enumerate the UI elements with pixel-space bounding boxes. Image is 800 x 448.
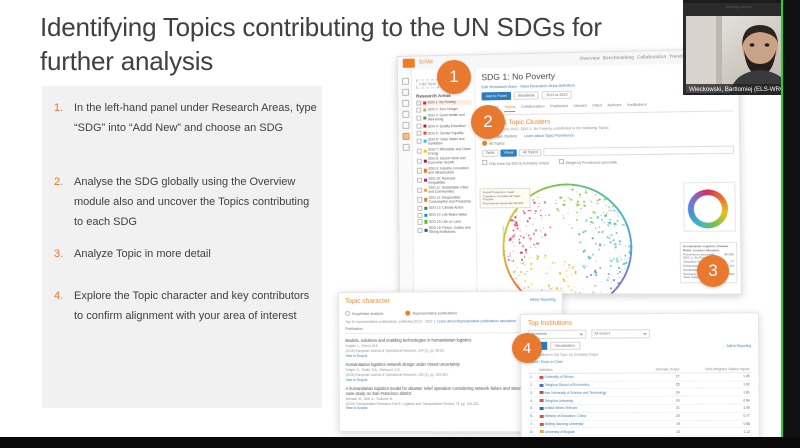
view-table-button[interactable]: Table bbox=[482, 149, 498, 156]
scatter-point bbox=[521, 258, 523, 260]
scatter-point bbox=[596, 216, 598, 218]
row-rank: 1. bbox=[528, 373, 537, 381]
scatter-point bbox=[525, 225, 526, 226]
scatter-point bbox=[594, 214, 595, 215]
scatter-point bbox=[625, 262, 627, 264]
scatter-point bbox=[514, 233, 515, 234]
nav-item-benchmarking[interactable]: Benchmarking bbox=[603, 55, 634, 61]
participant-name-label: Wieckowski, Bartlomiej (ELS-WRO bbox=[686, 84, 792, 95]
sdg-label: SDG 5: Gender Equality bbox=[428, 131, 464, 136]
checkbox-icon[interactable] bbox=[418, 228, 423, 233]
scatter-point bbox=[585, 192, 586, 193]
sdg-list-item[interactable]: SDG 14: Life Below Water bbox=[417, 212, 472, 218]
scatter-point bbox=[520, 252, 522, 254]
country-flag-icon bbox=[539, 423, 543, 426]
sdg-list-item[interactable]: SDG 4: Quality Education bbox=[416, 123, 471, 129]
scatter-point bbox=[623, 276, 625, 278]
rail-settings-icon[interactable] bbox=[403, 144, 410, 151]
institution-name[interactable]: Ministry of Education, China bbox=[545, 414, 586, 418]
institution-name[interactable]: University of Tehran bbox=[544, 375, 573, 379]
sdg-label: SDG 10: Reduced Inequalities bbox=[428, 176, 472, 184]
slide-canvas: Identifying Topics contributing to the U… bbox=[0, 0, 800, 437]
row-fwci: 1.02 bbox=[681, 380, 751, 388]
scatter-point bbox=[591, 230, 592, 231]
scatter-point bbox=[525, 280, 526, 281]
add-to-panel-button[interactable]: Add to Panel bbox=[482, 92, 511, 101]
scatter-point bbox=[585, 219, 588, 221]
scatter-point bbox=[510, 259, 511, 260]
scatter-point bbox=[584, 293, 586, 294]
step-item-4: 4. Explore the Topic character and key c… bbox=[50, 286, 318, 326]
scatter-point bbox=[615, 232, 617, 234]
sdg-label: SDG 15: Life on Land bbox=[429, 220, 461, 224]
export-show-on-chart-link[interactable]: Export / Show on Chart bbox=[528, 359, 751, 364]
scatter-point bbox=[556, 287, 558, 289]
row-institution[interactable]: University of Bogota bbox=[538, 428, 642, 436]
checkbox-icon[interactable] bbox=[416, 131, 421, 136]
sdg-label: SDG 11: Sustainable Cities and Communiti… bbox=[428, 186, 472, 194]
scatter-point bbox=[533, 243, 535, 245]
sdg-color-swatch bbox=[423, 150, 426, 153]
rail-areas-icon[interactable] bbox=[402, 89, 409, 96]
checkbox-icon[interactable] bbox=[416, 124, 421, 129]
sdg-list-item[interactable]: SDG 6: Clean Water and Sanitation bbox=[417, 137, 472, 146]
scatter-point bbox=[567, 281, 568, 282]
row-fwci: 0.94 bbox=[681, 396, 751, 404]
scatter-point bbox=[571, 227, 573, 229]
table-row[interactable]: 6.Ministry of Education, China200.77 bbox=[529, 412, 752, 420]
tab-authors[interactable]: Authors bbox=[607, 102, 621, 110]
checkbox-icon[interactable] bbox=[417, 197, 422, 202]
sdg-list-item[interactable]: SDG 8: Decent Work and Economic Growth bbox=[417, 156, 472, 165]
checkbox-icon[interactable] bbox=[559, 159, 564, 164]
scatter-point bbox=[622, 223, 625, 226]
step-number: 2. bbox=[50, 172, 72, 232]
radio-icon-topics[interactable] bbox=[482, 141, 487, 146]
row-fwci: 1.45 bbox=[681, 373, 751, 381]
sector-select[interactable]: All sectors bbox=[591, 329, 650, 338]
scatter-point bbox=[577, 204, 579, 206]
right-frame-edge bbox=[783, 0, 800, 437]
sdg-color-swatch bbox=[424, 169, 427, 172]
sdg-list-item[interactable]: SDG 10: Reduced Inequalities bbox=[417, 176, 472, 185]
scatter-point bbox=[573, 266, 574, 267]
scatter-point bbox=[607, 221, 608, 222]
metric-reporting-link[interactable]: Metric Reporting bbox=[530, 298, 555, 302]
row-rank: 8. bbox=[529, 428, 538, 436]
tab-viewed[interactable]: Viewed bbox=[573, 103, 586, 111]
institution-name[interactable]: Institut Mines-Telecom bbox=[545, 406, 578, 410]
rail-topics-icon[interactable] bbox=[403, 133, 410, 140]
topic-tooltip-card[interactable]: Social Protection; Cash Transfers; Condi… bbox=[479, 188, 530, 209]
scatter-point bbox=[562, 217, 564, 219]
sdg-label: SDG 7: Affordable and Clean Energy bbox=[428, 147, 472, 156]
scatter-point bbox=[513, 271, 515, 273]
scatter-point bbox=[570, 198, 573, 201]
sdg-color-swatch bbox=[423, 108, 426, 111]
rail-countries-icon[interactable] bbox=[402, 122, 409, 129]
radio-all-topics[interactable]: All Topics bbox=[482, 137, 734, 146]
sdg-color-swatch bbox=[424, 213, 427, 216]
add-new-button[interactable]: Add New bbox=[416, 79, 439, 88]
row-rank: 4. bbox=[529, 397, 538, 405]
scatter-point bbox=[576, 219, 578, 221]
scatter-point bbox=[585, 202, 586, 203]
row-institution[interactable]: Tsinghua University bbox=[538, 396, 642, 404]
radio-icon-representative[interactable] bbox=[405, 311, 410, 316]
step-text: Analyze Topic in more detail bbox=[72, 244, 211, 264]
scatter-point bbox=[558, 272, 561, 275]
webcam-person-illustration bbox=[686, 16, 792, 93]
country-flag-icon bbox=[539, 430, 543, 433]
scatter-point bbox=[530, 256, 531, 257]
radio-icon-keyphrase[interactable] bbox=[345, 311, 350, 316]
checkbox-row[interactable]: Only show top 500 by Scholarly Output We… bbox=[482, 157, 734, 166]
step-text: Explore the Topic character and key cont… bbox=[72, 286, 318, 326]
checkbox-icon[interactable] bbox=[417, 139, 422, 144]
sdg-list[interactable]: SDG 1: No PovertySDG 2: Zero HungerSDG 3… bbox=[416, 99, 473, 234]
checkbox-icon[interactable] bbox=[417, 212, 422, 217]
step-badge-1: 1 bbox=[437, 60, 471, 94]
scatter-point bbox=[564, 200, 566, 202]
row-institution[interactable]: Iran University of Science and Technolog… bbox=[538, 389, 642, 397]
scatter-point bbox=[613, 258, 615, 260]
steps-panel: 1. In the left-hand panel under Research… bbox=[42, 86, 322, 408]
rail-home-icon[interactable] bbox=[402, 78, 409, 85]
step-badge-4: 4 bbox=[512, 333, 542, 363]
row-institution[interactable]: Institut Mines-Telecom bbox=[538, 404, 642, 412]
sdg-color-swatch bbox=[423, 125, 426, 128]
row-rank: 2. bbox=[528, 381, 537, 389]
institution-name[interactable]: Tsinghua School of Economics bbox=[544, 383, 589, 387]
scatter-point bbox=[618, 267, 620, 269]
scatter-point bbox=[613, 209, 615, 211]
sdg-list-item[interactable]: SDG 2: Zero Hunger bbox=[416, 106, 471, 112]
scatter-point bbox=[568, 224, 569, 225]
scatter-point bbox=[544, 234, 546, 236]
sdg-list-item[interactable]: SDG 13: Climate Action bbox=[417, 205, 472, 211]
scatter-point bbox=[578, 233, 580, 235]
scatter-point bbox=[533, 268, 534, 269]
app-brand-label: SciVal bbox=[419, 59, 433, 65]
rail-authors-icon[interactable] bbox=[402, 100, 409, 107]
row-fwci: 1.12 bbox=[681, 428, 751, 436]
scatter-point bbox=[536, 258, 538, 260]
scatter-point bbox=[564, 265, 565, 266]
sdg-label: SDG 8: Decent Work and Economic Growth bbox=[428, 156, 472, 165]
country-flag-icon bbox=[539, 415, 543, 418]
radio-label: Keyphrase analysis bbox=[352, 311, 383, 315]
note-link[interactable]: Learn about Representative publications … bbox=[437, 319, 516, 323]
scatter-point bbox=[511, 219, 513, 221]
rail-institutions-icon[interactable] bbox=[402, 111, 409, 118]
topics-filter-select[interactable]: All Topics bbox=[519, 149, 542, 157]
step-number: 4. bbox=[50, 286, 72, 326]
scatter-point bbox=[609, 219, 611, 221]
sdg-label: SDG 13: Climate Action bbox=[429, 206, 464, 210]
checkbox-icon[interactable] bbox=[417, 158, 422, 163]
scatter-point bbox=[589, 224, 590, 225]
scatter-point bbox=[625, 245, 626, 246]
scatter-point bbox=[590, 274, 592, 276]
checkbox-label: Only show top 500 by Scholarly Output bbox=[489, 161, 549, 166]
row-rank: 7. bbox=[529, 420, 538, 428]
scatter-point bbox=[562, 215, 563, 216]
tab-published[interactable]: Published bbox=[550, 103, 568, 111]
institution-name[interactable]: University of Bogota bbox=[545, 430, 575, 434]
country-flag-icon bbox=[539, 407, 543, 410]
scatter-point bbox=[604, 199, 606, 201]
scatter-point bbox=[628, 251, 630, 253]
scatter-point bbox=[529, 237, 531, 239]
scatter-point bbox=[567, 285, 569, 287]
scatter-point bbox=[595, 274, 597, 276]
filter-row[interactable]: Table Visual All Topics bbox=[482, 146, 734, 157]
institution-note: of publications in this Topic, by Schola… bbox=[528, 352, 751, 357]
scatter-point bbox=[607, 273, 609, 275]
institution-name[interactable]: Beijing Jiaotong University bbox=[545, 422, 584, 426]
row-fwci: 1.81 bbox=[681, 388, 751, 396]
search-input[interactable] bbox=[544, 146, 734, 157]
sdg-label: SDG 3: Good Health and Well-being bbox=[428, 113, 472, 122]
row-scholarly-output: 20 bbox=[641, 412, 681, 420]
research-areas-heading: Research Areas bbox=[416, 93, 471, 99]
scatter-point bbox=[536, 254, 538, 256]
region-select[interactable]: Worldwide bbox=[514, 91, 539, 100]
scatter-point bbox=[579, 241, 581, 243]
scatter-point bbox=[524, 212, 525, 213]
row-institution[interactable]: Ministry of Education, China bbox=[538, 412, 642, 420]
scatter-point bbox=[580, 208, 582, 210]
scatter-point bbox=[600, 267, 602, 269]
scatter-point bbox=[525, 248, 527, 250]
scatter-point bbox=[528, 235, 529, 236]
scatter-point bbox=[604, 214, 606, 216]
view-visual-button[interactable]: Visual bbox=[500, 149, 517, 156]
institution-filters[interactable]: Worldwide All sectors bbox=[528, 329, 751, 339]
sdg-list-item[interactable]: SDG 9: Industry, Innovation and Infrastr… bbox=[417, 166, 472, 175]
sdg-label: SDG 1: No Poverty bbox=[428, 100, 456, 105]
scatter-point bbox=[563, 185, 564, 186]
sdg-color-swatch bbox=[424, 220, 427, 223]
sdg-list-item[interactable]: SDG 7: Affordable and Clean Energy bbox=[417, 147, 472, 156]
nav-item-overview[interactable]: Overview bbox=[580, 55, 600, 61]
step-item-1: 1. In the left-hand panel under Research… bbox=[50, 98, 318, 138]
tab-visualization[interactable]: Visualization bbox=[550, 342, 580, 351]
sdg-label: SDG 14: Life Below Water bbox=[429, 213, 468, 217]
checkbox-icon[interactable] bbox=[416, 100, 421, 105]
step-item-3: 3. Analyze Topic in more detail bbox=[50, 244, 318, 264]
row-scholarly-output: 13 bbox=[642, 428, 682, 436]
scatter-point bbox=[562, 278, 564, 280]
webcam-tile[interactable]: sharing screen Wieckowski, Bartlomiej bbox=[683, 3, 795, 95]
scatter-point bbox=[610, 260, 613, 262]
tab-institutions[interactable]: Institutions bbox=[627, 102, 647, 110]
country-flag-icon bbox=[539, 399, 543, 402]
tab-collaboration[interactable]: Collaboration bbox=[521, 103, 545, 111]
checkbox-weight-prominence[interactable]: Weight by Prominence percentile bbox=[559, 158, 617, 165]
sdg-list-item[interactable]: SDG 3: Good Health and Well-being bbox=[416, 113, 471, 122]
checkbox-icon[interactable] bbox=[417, 206, 422, 211]
nav-item-collaboration[interactable]: Collaboration bbox=[637, 54, 666, 60]
scatter-point bbox=[598, 248, 600, 250]
step-number: 3. bbox=[50, 244, 72, 264]
scatter-point bbox=[542, 217, 543, 218]
scatter-point bbox=[579, 194, 581, 196]
step-badge-2: 2 bbox=[471, 105, 505, 139]
row-rank: 3. bbox=[529, 389, 538, 397]
scatter-point bbox=[628, 246, 630, 248]
sdg-color-swatch bbox=[423, 116, 426, 119]
scatter-point bbox=[598, 231, 600, 233]
checkbox-icon[interactable] bbox=[417, 149, 422, 154]
sdg-color-swatch bbox=[423, 159, 426, 162]
checkbox-icon[interactable] bbox=[416, 107, 421, 112]
scatter-point bbox=[540, 215, 542, 217]
scatter-point bbox=[523, 236, 525, 238]
scatter-point bbox=[568, 264, 570, 266]
minimap-box[interactable] bbox=[683, 182, 736, 232]
sdg-label: SDG 9: Industry, Innovation and Infrastr… bbox=[428, 166, 472, 175]
sdg-color-swatch bbox=[424, 188, 427, 191]
sdg-label: SDG 12: Responsible Consumption and Prod… bbox=[429, 195, 473, 203]
scatter-point bbox=[545, 255, 547, 257]
webcam-video bbox=[686, 16, 792, 93]
country-flag-icon bbox=[539, 391, 543, 394]
table-row[interactable]: 7.Beijing Jiaotong University190.68 bbox=[529, 420, 752, 428]
scatter-point bbox=[533, 201, 535, 203]
scatter-point bbox=[565, 276, 567, 278]
row-scholarly-output: 19 bbox=[642, 420, 682, 428]
sdg-list-item[interactable]: SDG 12: Responsible Consumption and Prod… bbox=[417, 195, 472, 203]
scatter-point bbox=[601, 219, 602, 220]
add-to-reporting-link[interactable]: Add to Reporting bbox=[726, 344, 751, 348]
tooltip-sub: Prominence percentile 99.934 bbox=[483, 202, 528, 206]
topic-character-title: Topic character bbox=[345, 297, 555, 305]
topic-prominence-link[interactable]: Learn about Topic Prominence bbox=[524, 133, 574, 138]
scatter-point bbox=[621, 259, 622, 260]
scatter-point bbox=[544, 201, 546, 203]
table-row[interactable]: 8.University of Bogota131.12 bbox=[529, 428, 752, 436]
checkbox-icon[interactable] bbox=[417, 187, 422, 192]
scatter-point bbox=[586, 276, 588, 278]
research-areas-panel: Add New Research Areas SDG 1: No Poverty… bbox=[412, 68, 478, 293]
country-flag-icon bbox=[539, 384, 543, 387]
radio-representative-publications[interactable]: Representative publications bbox=[405, 310, 457, 315]
institution-name[interactable]: Iran University of Science and Technolog… bbox=[545, 391, 607, 395]
scatter-point bbox=[624, 255, 626, 257]
row-fwci: 1.43 bbox=[681, 404, 751, 412]
scatter-point bbox=[543, 227, 544, 228]
scatter-point bbox=[596, 199, 598, 201]
sdg-list-item[interactable]: SDG 11: Sustainable Cities and Communiti… bbox=[417, 186, 472, 195]
checkbox-icon[interactable] bbox=[417, 178, 422, 183]
row-scholarly-output: 27 bbox=[641, 373, 681, 381]
sdg-color-swatch bbox=[423, 132, 426, 135]
sdg-list-item[interactable]: SDG 16: Peace, Justice and Strong Instit… bbox=[417, 226, 472, 234]
scatter-point bbox=[574, 271, 576, 273]
scatter-point bbox=[590, 200, 592, 202]
scatter-point bbox=[577, 250, 578, 251]
tab-topics[interactable]: Topics bbox=[504, 104, 515, 112]
sdg-list-item[interactable]: SDG 5: Gender Equality bbox=[416, 130, 471, 136]
scatter-point bbox=[516, 227, 518, 229]
scatter-point bbox=[562, 203, 565, 206]
content-tabs[interactable]: Summary Topics Collaboration Published V… bbox=[482, 100, 734, 115]
note-text: Top 10 representative publications, publ… bbox=[345, 319, 432, 323]
institutions-table[interactable]: Institution Scholarly Output Field-Weigh… bbox=[528, 366, 751, 436]
scatter-point bbox=[535, 246, 536, 247]
scatter-point bbox=[571, 274, 572, 275]
scatter-point bbox=[618, 282, 621, 284]
scatter-point bbox=[616, 260, 619, 262]
row-scholarly-output: 24 bbox=[641, 396, 681, 404]
scatter-point bbox=[608, 294, 610, 295]
sdg-color-swatch bbox=[423, 101, 426, 104]
sdg-label: SDG 2: Zero Hunger bbox=[428, 107, 458, 112]
checkbox-icon[interactable] bbox=[417, 219, 422, 224]
checkbox-top500[interactable]: Only show top 500 by Scholarly Output bbox=[482, 159, 549, 166]
scatter-point bbox=[592, 222, 593, 223]
scatter-point bbox=[517, 284, 519, 286]
scatter-point bbox=[599, 226, 600, 227]
scatter-point bbox=[520, 271, 522, 273]
scatter-point bbox=[514, 216, 516, 218]
scatter-point bbox=[523, 212, 524, 213]
checkbox-icon[interactable] bbox=[482, 160, 487, 165]
radio-label: Representative publications bbox=[413, 311, 458, 315]
checkbox-label: Weight by Prominence percentile bbox=[566, 160, 618, 165]
years-select[interactable]: 2013 to 2022 bbox=[542, 91, 572, 100]
bottom-frame-bar bbox=[0, 437, 800, 448]
sdg-color-swatch bbox=[424, 229, 427, 232]
institution-view-tabs[interactable]: Table Visualization bbox=[528, 341, 751, 351]
sdg-color-swatch bbox=[423, 140, 426, 143]
checkbox-icon[interactable] bbox=[416, 115, 421, 120]
sdg-list-item[interactable]: SDG 1: No Poverty bbox=[416, 99, 471, 105]
step-item-2: 2. Analyse the SDG globally using the Ov… bbox=[50, 172, 318, 232]
scatter-point bbox=[572, 189, 573, 190]
scatter-point bbox=[526, 220, 528, 222]
scatter-point bbox=[606, 236, 608, 238]
checkbox-icon[interactable] bbox=[417, 168, 422, 173]
scatter-point bbox=[609, 241, 611, 243]
row-institution[interactable]: Beijing Jiaotong University bbox=[538, 420, 642, 428]
scatter-point bbox=[508, 239, 510, 241]
sdg-label: SDG 4: Quality Education bbox=[428, 124, 466, 129]
sdg-list-item[interactable]: SDG 15: Life on Land bbox=[417, 219, 472, 225]
scatter-point bbox=[507, 256, 508, 257]
row-rank: 6. bbox=[529, 412, 538, 420]
green-border-line bbox=[781, 0, 783, 448]
scatter-point bbox=[540, 230, 541, 231]
country-flag-icon bbox=[539, 376, 543, 379]
radio-keyphrase-analysis[interactable]: Keyphrase analysis bbox=[345, 311, 383, 316]
scatter-point bbox=[595, 268, 596, 269]
scatter-point bbox=[548, 284, 550, 286]
radio-label: All Topics bbox=[489, 141, 504, 145]
step-number: 1. bbox=[50, 98, 72, 138]
sdg-color-swatch bbox=[424, 179, 427, 182]
scatter-point bbox=[615, 223, 617, 225]
institutions-table-body: 1.University of Tehran271.452.Tsinghua S… bbox=[528, 373, 751, 436]
top-institutions-title: Top Institutions bbox=[528, 318, 751, 326]
institution-name[interactable]: Tsinghua University bbox=[545, 399, 574, 403]
scatter-point bbox=[533, 233, 535, 235]
step-badge-3: 3 bbox=[697, 255, 729, 287]
tab-cited[interactable]: Cited bbox=[592, 102, 602, 110]
row-rank: 5. bbox=[529, 404, 538, 412]
